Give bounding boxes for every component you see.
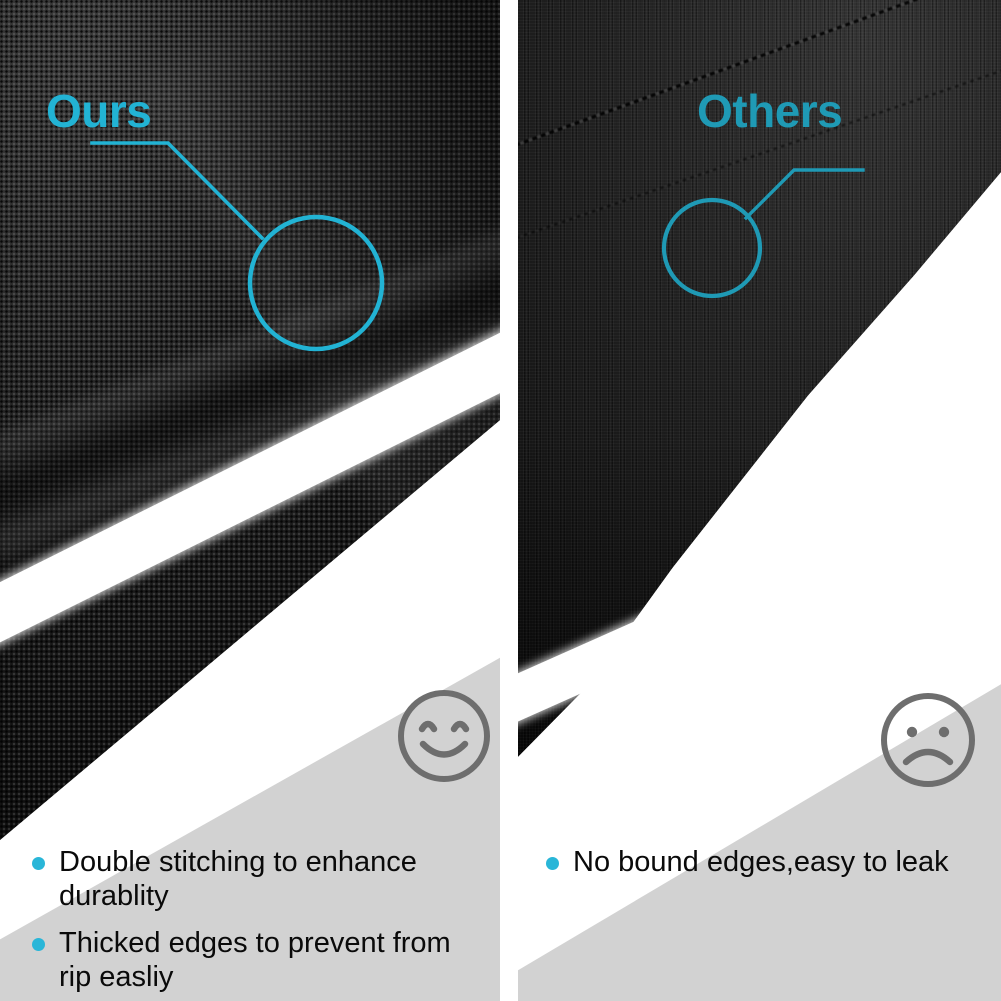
list-item: Double stitching to enhance durablity [32,846,500,913]
list-item-label: Double stitching to enhance durablity [59,846,479,913]
bullet-dot-icon [32,857,45,870]
list-item-label: No bound edges,easy to leak [573,846,949,880]
list-item: No bound edges,easy to leak [546,846,1001,880]
label-ours: Ours [46,88,151,134]
label-others: Others [697,88,842,134]
comparison-infographic: Ours Double stitching to enhance durabli… [0,0,1001,1001]
panel-ours: Ours Double stitching to enhance durabli… [0,0,500,1001]
panel-others: Others No bound edges,easy to leak [518,0,1001,1001]
smiley-happy-icon [394,686,494,786]
bullet-dot-icon [546,857,559,870]
list-item: Thicked edges to prevent from rip easliy [32,927,500,994]
frown-sad-icon [876,688,980,792]
feature-list-others: No bound edges,easy to leak [518,846,1001,894]
bullet-dot-icon [32,938,45,951]
list-item-label: Thicked edges to prevent from rip easliy [59,927,479,994]
feature-list-ours: Double stitching to enhance durablity Th… [0,846,500,1001]
